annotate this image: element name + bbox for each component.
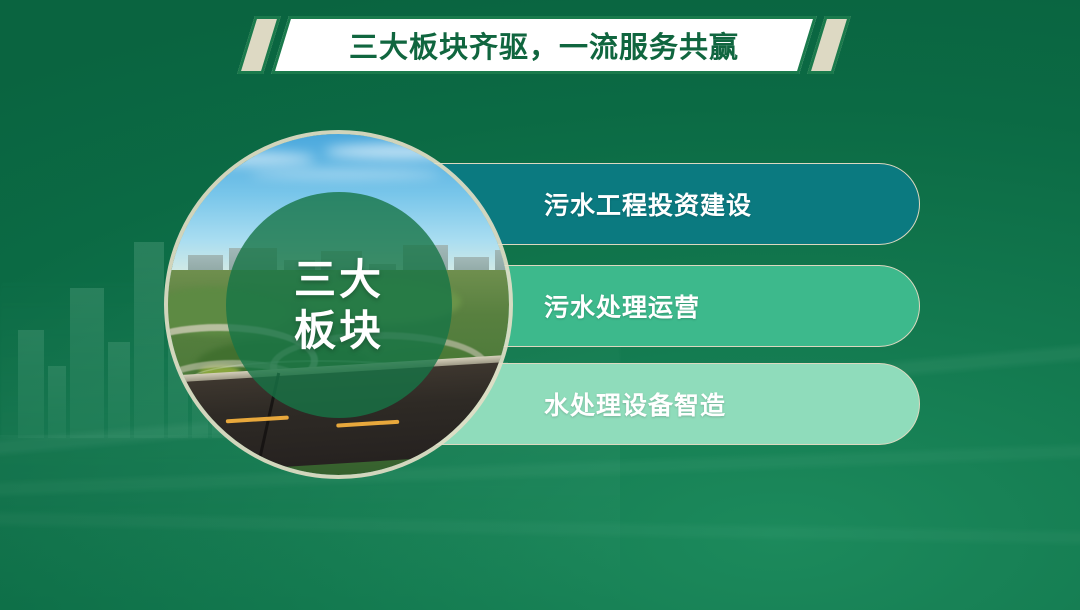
watermark-building xyxy=(48,366,66,438)
slide-root: 三大板块齐驱，一流服务共赢 污水工程投资建设 污水处理运营 水处理设备智造 xyxy=(0,0,1080,610)
circle-label-line1: 三大 xyxy=(294,254,384,305)
segment-pill-1-label: 污水工程投资建设 xyxy=(544,186,752,222)
watermark-building xyxy=(70,288,104,438)
segment-pill-2-label: 污水处理运营 xyxy=(544,288,700,324)
circle-label-line2: 板块 xyxy=(294,305,384,356)
watermark-building xyxy=(134,242,164,438)
watermark-building xyxy=(108,342,130,438)
circle-overlay-label: 三大 板块 xyxy=(226,192,452,418)
page-title: 三大板块齐驱，一流服务共赢 xyxy=(280,16,808,74)
segment-pill-3-label: 水处理设备智造 xyxy=(544,386,726,422)
hero-circle: 三大 板块 xyxy=(164,130,513,479)
title-banner: 三大板块齐驱，一流服务共赢 xyxy=(246,16,842,74)
watermark-building xyxy=(18,330,44,438)
